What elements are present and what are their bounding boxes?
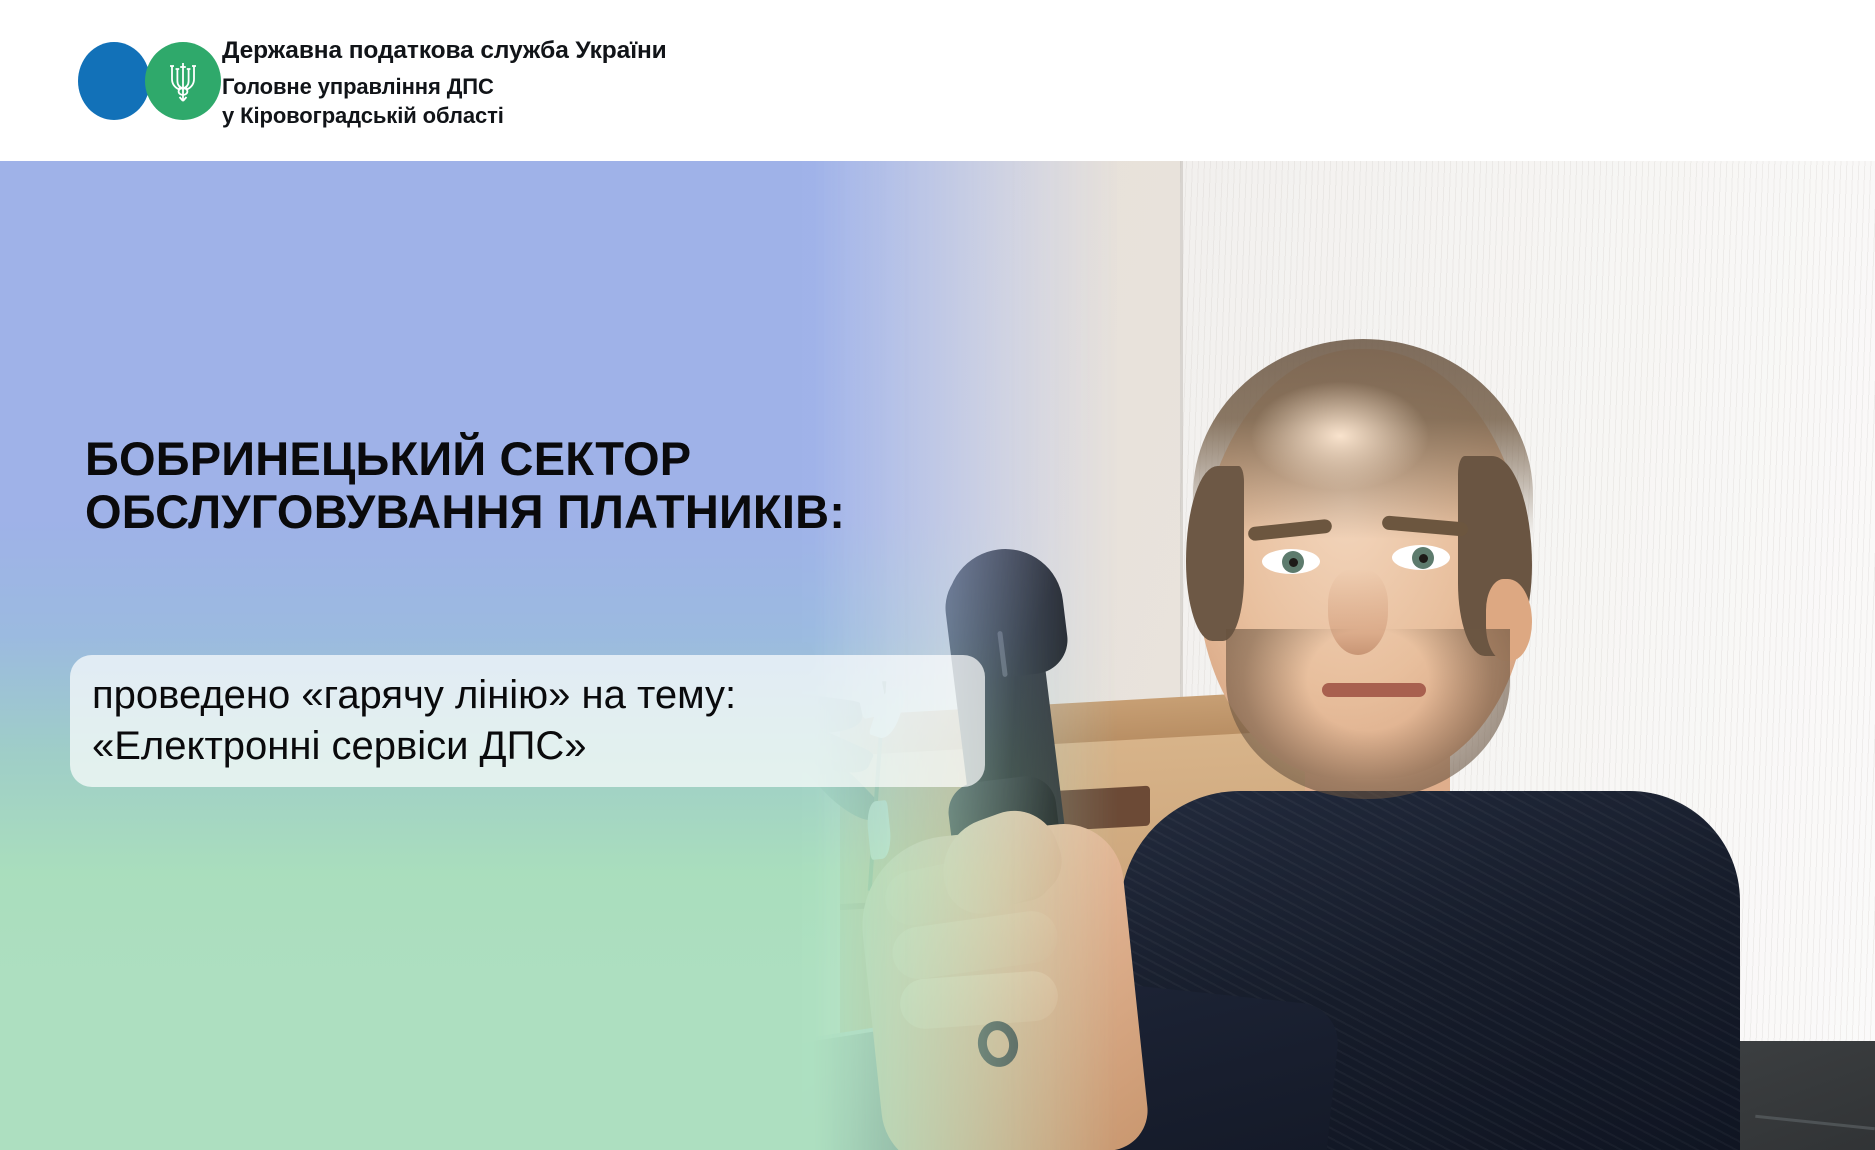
beard	[1226, 629, 1510, 799]
callout-line-2: «Електронні сервіси ДПС»	[92, 721, 963, 772]
poster-page: Державна податкова служба України Головн…	[0, 0, 1875, 1150]
hair-left-side	[1186, 466, 1244, 641]
forehead-highlight	[1250, 381, 1430, 491]
headline-line-1: БОБРИНЕЦЬКИЙ СЕКТОР	[85, 433, 985, 486]
banner-stage: БОБРИНЕЦЬКИЙ СЕКТОР ОБСЛУГОВУВАННЯ ПЛАТН…	[0, 161, 1875, 1150]
agency-name-line-1: Державна податкова служба України	[222, 36, 667, 67]
callout-line-1: проведено «гарячу лінію» на тему:	[92, 670, 963, 721]
agency-logo	[78, 42, 218, 122]
trident-icon	[165, 57, 201, 105]
pupil-right	[1419, 554, 1428, 563]
mouth	[1322, 683, 1426, 697]
banner-callout-box: проведено «гарячу лінію» на тему: «Елект…	[70, 655, 985, 787]
headline-line-2: ОБСЛУГОВУВАННЯ ПЛАТНИКІВ:	[85, 486, 985, 539]
person-on-phone	[1090, 231, 1710, 1150]
pupil-left	[1289, 558, 1298, 567]
logo-blue-circle-icon	[78, 42, 150, 120]
banner-text-block: БОБРИНЕЦЬКИЙ СЕКТОР ОБСЛУГОВУВАННЯ ПЛАТН…	[0, 161, 1130, 1150]
banner-headline: БОБРИНЕЦЬКИЙ СЕКТОР ОБСЛУГОВУВАННЯ ПЛАТН…	[85, 433, 985, 538]
site-header: Державна податкова служба України Головн…	[0, 0, 1875, 161]
agency-name-block: Державна податкова служба України Головн…	[222, 36, 667, 129]
agency-name-line-2: Головне управління ДПС	[222, 73, 667, 101]
office-chair	[1720, 1041, 1875, 1150]
logo-green-circle-icon	[145, 42, 221, 120]
agency-name-line-3: у Кіровоградській області	[222, 102, 667, 130]
